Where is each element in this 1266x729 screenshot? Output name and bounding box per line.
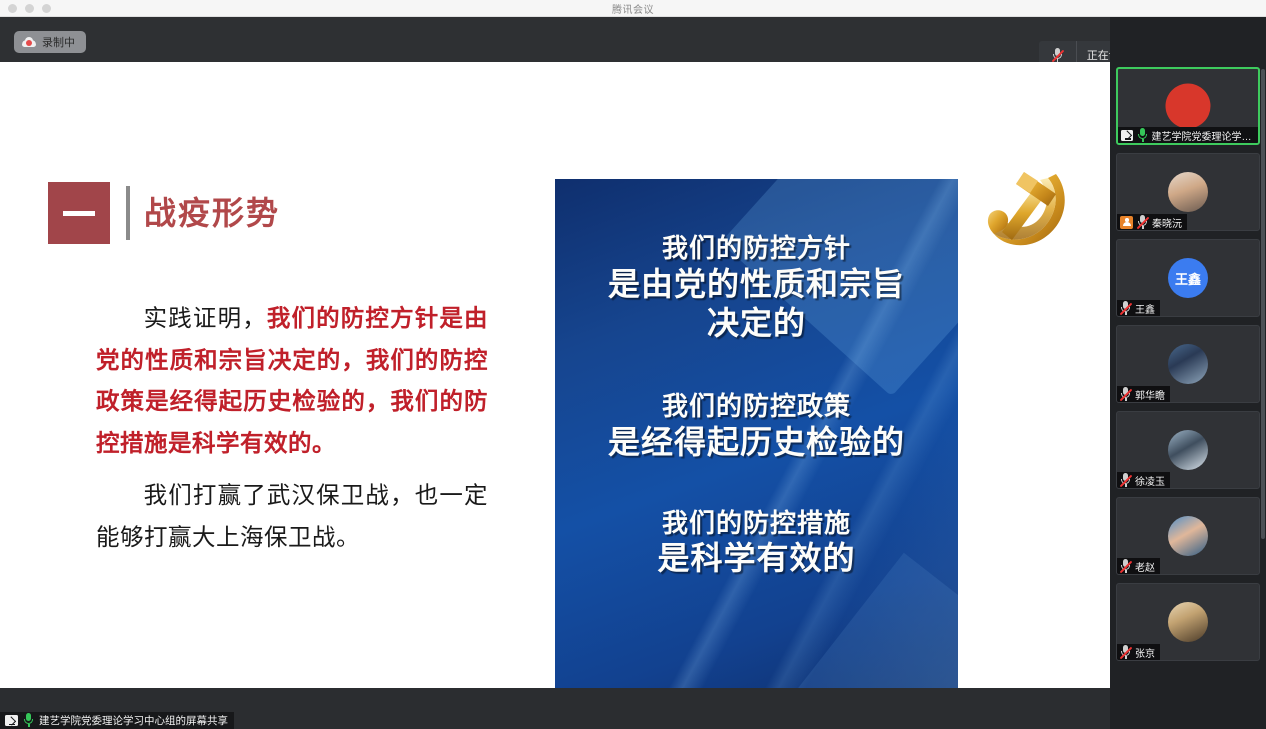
recording-label: 录制中 (42, 34, 75, 50)
traffic-lights (8, 4, 51, 13)
slide-poster-image: 我们的防控方针 是由党的性质和宗旨 决定的 我们的防控政策 是经得起历史检验的 … (555, 179, 958, 688)
participants-panel: 建艺学院党委理论学习...秦晓沅王鑫王鑫郭华瞻徐凌玉老赵张京 (1110, 17, 1266, 729)
avatar (1168, 344, 1208, 384)
screen-share-icon (5, 715, 18, 726)
slide-heading: 战疫形势 (48, 182, 280, 244)
poster-line-2b: 是经得起历史检验的 (555, 423, 958, 462)
mic-muted-icon (1120, 387, 1131, 402)
paragraph-1-plain: 实践证明， (143, 305, 267, 331)
participant-name: 徐凌玉 (1135, 473, 1165, 488)
poster-block-3: 我们的防控措施 是科学有效的 (555, 462, 958, 579)
close-button[interactable] (8, 4, 17, 13)
participant-tile[interactable]: 秦晓沅 (1116, 153, 1260, 231)
slide-paragraph-2: 我们打赢了武汉保卫战，也一定能够打赢大上海保卫战。 (96, 475, 488, 558)
participant-tile[interactable]: 徐凌玉 (1116, 411, 1260, 489)
mic-muted-icon (1137, 215, 1148, 230)
slide-body: 实践证明，我们的防控方针是由党的性质和宗旨决定的，我们的防控政策是经得起历史检验… (96, 298, 488, 558)
participant-tiles[interactable]: 建艺学院党委理论学习...秦晓沅王鑫王鑫郭华瞻徐凌玉老赵张京 (1110, 67, 1266, 729)
screen-share-icon (1121, 130, 1133, 141)
avatar (1166, 84, 1211, 129)
poster-line-2a: 我们的防控政策 (555, 391, 958, 423)
poster-line-1a: 我们的防控方针 (555, 233, 958, 265)
recording-badge[interactable]: 录制中 (14, 31, 86, 53)
participant-name-bar: 老赵 (1117, 558, 1160, 574)
participants-scrollbar[interactable] (1261, 69, 1265, 669)
slide-paragraph-1: 实践证明，我们的防控方针是由党的性质和宗旨决定的，我们的防控政策是经得起历史检验… (96, 298, 488, 464)
mic-muted-icon (1120, 559, 1131, 574)
participant-name-bar: 张京 (1117, 644, 1160, 660)
participant-name: 老赵 (1135, 559, 1155, 574)
participant-name: 王鑫 (1135, 301, 1155, 316)
participant-name: 张京 (1135, 645, 1155, 660)
slide-title: 战疫形势 (144, 197, 280, 229)
window-title: 腾讯会议 (0, 1, 1266, 16)
mic-muted-icon (1120, 473, 1131, 488)
mic-muted-icon (1120, 301, 1131, 316)
poster-line-1c: 决定的 (555, 304, 958, 343)
participant-name: 秦晓沅 (1152, 215, 1182, 230)
participant-tile[interactable]: 郭华瞻 (1116, 325, 1260, 403)
scrollbar-thumb[interactable] (1261, 69, 1265, 539)
participant-name-bar: 秦晓沅 (1117, 214, 1187, 230)
avatar: 王鑫 (1168, 258, 1208, 298)
cloud-record-icon (22, 37, 36, 47)
window-titlebar: 腾讯会议 (0, 0, 1266, 17)
participant-tile[interactable]: 老赵 (1116, 497, 1260, 575)
poster-line-3b: 是科学有效的 (555, 539, 958, 578)
zoom-button[interactable] (42, 4, 51, 13)
participant-name: 建艺学院党委理论学习... (1152, 128, 1254, 143)
minimize-button[interactable] (25, 4, 34, 13)
participant-tile[interactable]: 王鑫王鑫 (1116, 239, 1260, 317)
participant-name-bar: 徐凌玉 (1117, 472, 1170, 488)
mic-muted-icon (1120, 645, 1131, 660)
poster-line-3a: 我们的防控措施 (555, 508, 958, 540)
paragraph-2-text: 我们打赢了武汉保卫战，也一定能够打赢大上海保卫战。 (96, 482, 488, 550)
participant-name-bar: 郭华瞻 (1117, 386, 1170, 402)
poster-block-1: 我们的防控方针 是由党的性质和宗旨 决定的 (555, 179, 958, 343)
avatar (1168, 172, 1208, 212)
participant-tile[interactable]: 建艺学院党委理论学习... (1116, 67, 1260, 145)
poster-line-1b: 是由党的性质和宗旨 (555, 265, 958, 304)
participant-name-bar: 王鑫 (1117, 300, 1160, 316)
meeting-window: 腾讯会议 录制中 正在讲话: 建艺学院党委理论学习... 战疫形势 实践证明，我… (0, 0, 1266, 729)
section-number-box (48, 182, 110, 244)
participant-tile[interactable]: 张京 (1116, 583, 1260, 661)
avatar (1168, 430, 1208, 470)
participant-name: 郭华瞻 (1135, 387, 1165, 402)
participant-name-bar: 建艺学院党委理论学习... (1118, 127, 1258, 143)
avatar (1168, 516, 1208, 556)
shared-screen[interactable]: 战疫形势 实践证明，我们的防控方针是由党的性质和宗旨决定的，我们的防控政策是经得… (0, 62, 1110, 688)
mic-on-icon (23, 713, 34, 728)
mic-on-icon (1137, 128, 1147, 143)
heading-divider (126, 186, 130, 240)
poster-block-2: 我们的防控政策 是经得起历史检验的 (555, 343, 958, 462)
section-number-glyph (63, 211, 95, 216)
share-owner-bar: 建艺学院党委理论学习中心组的屏幕共享 (0, 712, 234, 729)
host-icon (1120, 216, 1133, 229)
avatar (1168, 602, 1208, 642)
share-owner-text: 建艺学院党委理论学习中心组的屏幕共享 (39, 713, 228, 728)
cpc-hammer-sickle-icon (978, 166, 1078, 258)
